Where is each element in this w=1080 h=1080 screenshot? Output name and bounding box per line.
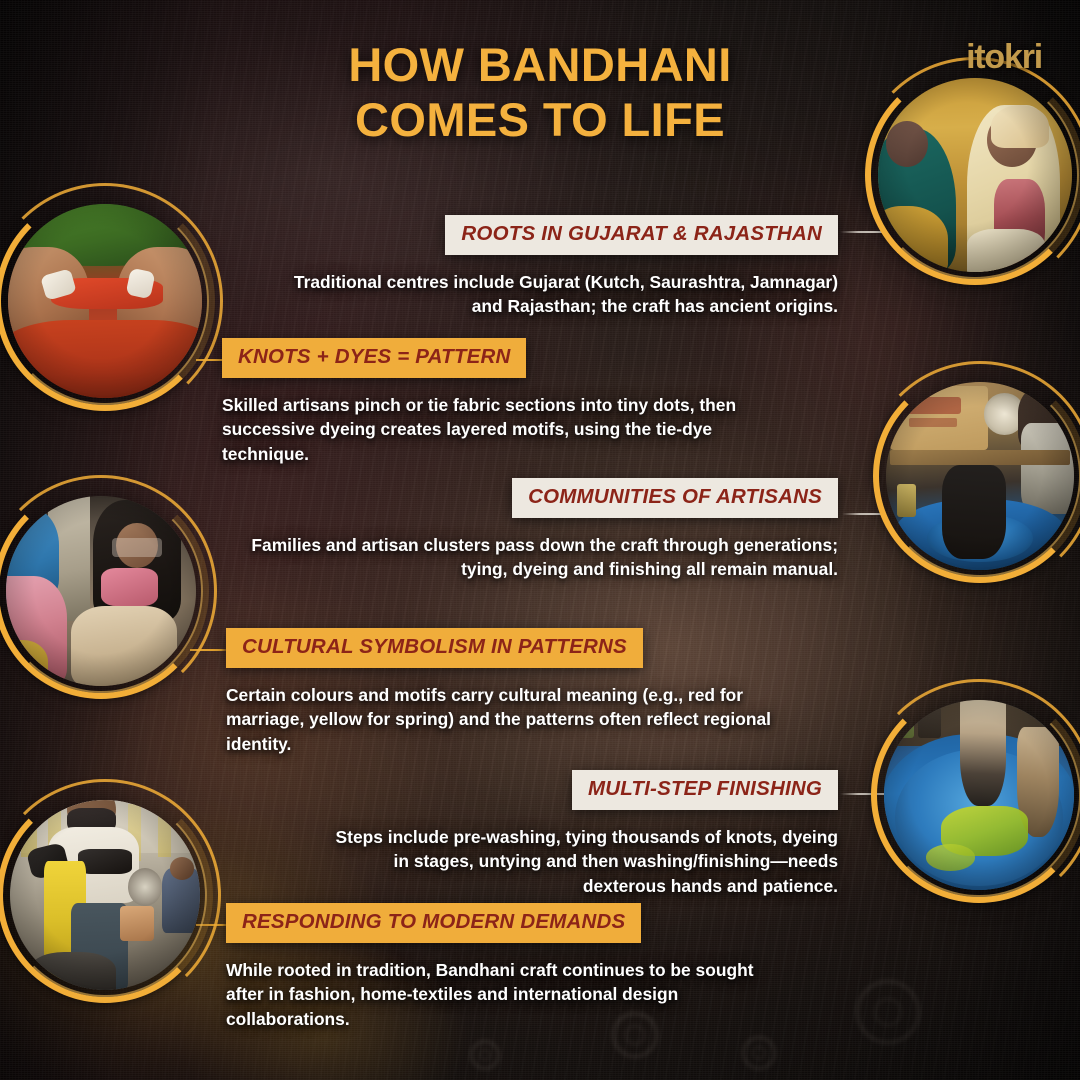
connector-symbolism (190, 649, 230, 651)
section-knots-dyes: KNOTS + DYES = PATTERN Skilled artisans … (222, 338, 762, 467)
section-finishing: MULTI-STEP FINISHING Steps include pre-w… (318, 770, 838, 899)
section-modern-demands-badge[interactable]: RESPONDING TO MODERN DEMANDS (226, 903, 641, 943)
photo-artisan-yellow-cloth-image (10, 800, 200, 990)
photo-dyer-blue-vat-image (886, 382, 1074, 570)
section-communities-badge[interactable]: COMMUNITIES OF ARTISANS (512, 478, 838, 518)
page-title-line-1: HOW BANDHANI (348, 38, 731, 91)
itokri-logo[interactable]: itokri (966, 40, 1042, 74)
page-title-line-2: COMES TO LIFE (0, 93, 1080, 148)
section-finishing-body: Steps include pre-washing, tying thousan… (318, 825, 838, 899)
section-roots-body: Traditional centres include Gujarat (Kut… (270, 270, 838, 319)
photo-women-knotting (6, 496, 196, 686)
section-communities: COMMUNITIES OF ARTISANS Families and art… (238, 478, 838, 582)
photo-hands-tying-red (8, 204, 202, 398)
photo-fabric-in-dye-vat-image (884, 700, 1074, 890)
connector-finishing (840, 793, 886, 795)
section-symbolism-body: Certain colours and motifs carry cultura… (226, 683, 782, 757)
photo-dyer-blue-vat (886, 382, 1074, 570)
section-modern-demands: RESPONDING TO MODERN DEMANDS While roote… (226, 903, 784, 1032)
section-roots-badge[interactable]: ROOTS IN GUJARAT & RAJASTHAN (445, 215, 838, 255)
connector-communities (842, 513, 886, 515)
infographic-poster: itokri HOW BANDHANI COMES TO LIFE (0, 0, 1080, 1080)
section-knots-dyes-badge[interactable]: KNOTS + DYES = PATTERN (222, 338, 526, 378)
photo-fabric-in-dye-vat (884, 700, 1074, 890)
section-roots: ROOTS IN GUJARAT & RAJASTHAN Traditional… (270, 215, 838, 319)
itokri-logo-text: itokri (966, 38, 1042, 76)
photo-women-knotting-image (6, 496, 196, 686)
section-communities-body: Families and artisan clusters pass down … (238, 533, 838, 582)
section-symbolism-badge[interactable]: CULTURAL SYMBOLISM IN PATTERNS (226, 628, 643, 668)
photo-artisan-yellow-cloth (10, 800, 200, 990)
section-modern-demands-body: While rooted in tradition, Bandhani craf… (226, 958, 784, 1032)
section-finishing-badge[interactable]: MULTI-STEP FINISHING (572, 770, 838, 810)
section-symbolism: CULTURAL SYMBOLISM IN PATTERNS Certain c… (226, 628, 782, 757)
connector-modern (196, 924, 230, 926)
page-title: HOW BANDHANI COMES TO LIFE (0, 38, 1080, 147)
section-knots-dyes-body: Skilled artisans pinch or tie fabric sec… (222, 393, 762, 467)
photo-hands-tying-red-image (8, 204, 202, 398)
